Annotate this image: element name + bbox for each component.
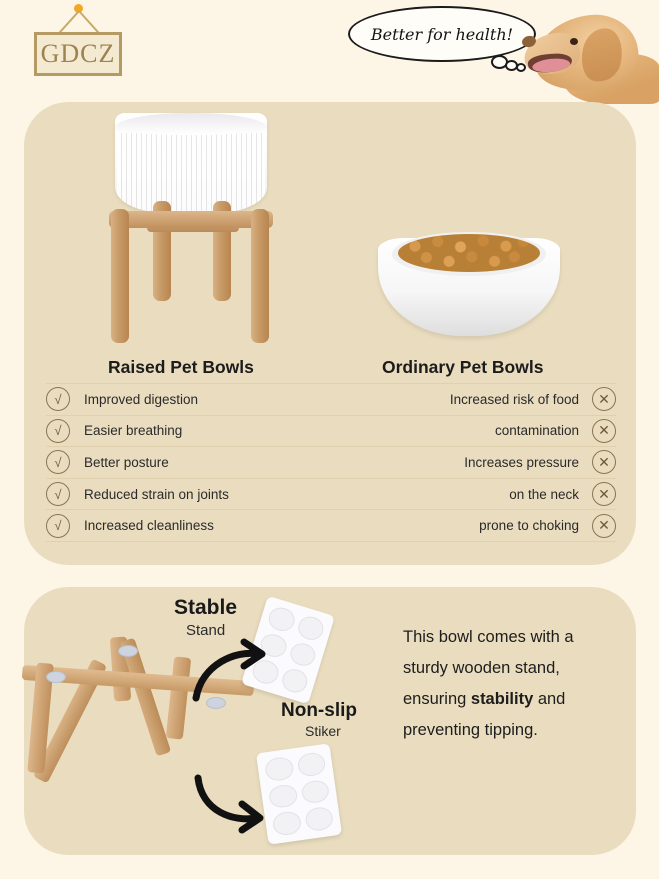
sticker-pad bbox=[279, 666, 310, 695]
logo-string-right bbox=[78, 10, 100, 34]
stand-rail bbox=[109, 211, 273, 228]
logo-text: GDCZ bbox=[41, 39, 116, 69]
wooden-stand bbox=[95, 195, 285, 343]
table-row: √Better postureIncreases pressure✕ bbox=[46, 447, 616, 479]
con-text: on the neck bbox=[332, 487, 593, 502]
kibble bbox=[398, 234, 540, 272]
feature-description: This bowl comes with a sturdy wooden sta… bbox=[403, 622, 618, 746]
ordinary-pet-bowl-image bbox=[378, 228, 560, 340]
con-text: contamination bbox=[332, 423, 593, 438]
infographic-canvas: GDCZ Better for health! bbox=[0, 0, 659, 879]
pro-text: Increased cleanliness bbox=[70, 518, 332, 533]
check-circle-icon: √ bbox=[46, 482, 70, 506]
bowl-rim bbox=[115, 113, 267, 135]
cross-circle-icon: ✕ bbox=[592, 482, 616, 506]
table-row: √Reduced strain on jointson the neck✕ bbox=[46, 479, 616, 511]
pro-text: Reduced strain on joints bbox=[70, 487, 332, 502]
check-circle-icon: √ bbox=[46, 514, 70, 538]
logo-plate: GDCZ bbox=[34, 32, 122, 76]
check-circle-icon: √ bbox=[46, 387, 70, 411]
sticker-pad bbox=[287, 640, 318, 669]
sticker-pad bbox=[300, 779, 330, 805]
table-row: √Easier breathingcontamination✕ bbox=[46, 416, 616, 448]
con-text: prone to choking bbox=[332, 518, 593, 533]
description-emphasis: stability bbox=[471, 690, 533, 708]
cross-circle-icon: ✕ bbox=[592, 450, 616, 474]
sticker-pad bbox=[304, 806, 334, 832]
curved-arrow-icon bbox=[186, 636, 272, 706]
comparison-table: √Improved digestionIncreased risk of foo… bbox=[46, 383, 616, 542]
golden-retriever-head-icon bbox=[508, 2, 659, 100]
stand-leg bbox=[111, 209, 129, 343]
con-text: Increases pressure bbox=[332, 455, 593, 470]
non-slip-pad bbox=[118, 645, 138, 657]
pro-text: Easier breathing bbox=[70, 423, 332, 438]
cross-circle-icon: ✕ bbox=[592, 387, 616, 411]
sticker-pad bbox=[296, 751, 326, 777]
brand-logo: GDCZ bbox=[28, 4, 128, 74]
sticker-pad bbox=[272, 811, 302, 837]
non-slip-pad bbox=[46, 671, 66, 683]
con-text: Increased risk of food bbox=[332, 392, 593, 407]
speech-bubble-text: Better for health! bbox=[371, 25, 513, 44]
table-row: √Improved digestionIncreased risk of foo… bbox=[46, 383, 616, 416]
sticker-pad bbox=[295, 613, 326, 642]
pro-text: Better posture bbox=[70, 455, 332, 470]
check-circle-icon: √ bbox=[46, 419, 70, 443]
table-row: √Increased cleanlinessprone to choking✕ bbox=[46, 510, 616, 542]
curved-arrow-icon bbox=[190, 770, 276, 836]
stable-title: Stable bbox=[174, 596, 237, 620]
header: GDCZ Better for health! bbox=[0, 0, 659, 100]
nonslip-subtitle: Stiker bbox=[305, 723, 341, 739]
sticker-pad bbox=[266, 605, 297, 634]
cross-circle-icon: ✕ bbox=[592, 514, 616, 538]
raised-pet-bowl-image bbox=[95, 113, 285, 343]
dog-eye bbox=[570, 38, 578, 45]
nonslip-title: Non-slip bbox=[281, 700, 357, 722]
ordinary-bowl-heading: Ordinary Pet Bowls bbox=[382, 357, 543, 378]
check-circle-icon: √ bbox=[46, 450, 70, 474]
raised-bowl-heading: Raised Pet Bowls bbox=[108, 357, 254, 378]
logo-string-left bbox=[58, 10, 80, 34]
pro-text: Improved digestion bbox=[70, 392, 332, 407]
cross-circle-icon: ✕ bbox=[592, 419, 616, 443]
stand-leg bbox=[251, 209, 269, 343]
